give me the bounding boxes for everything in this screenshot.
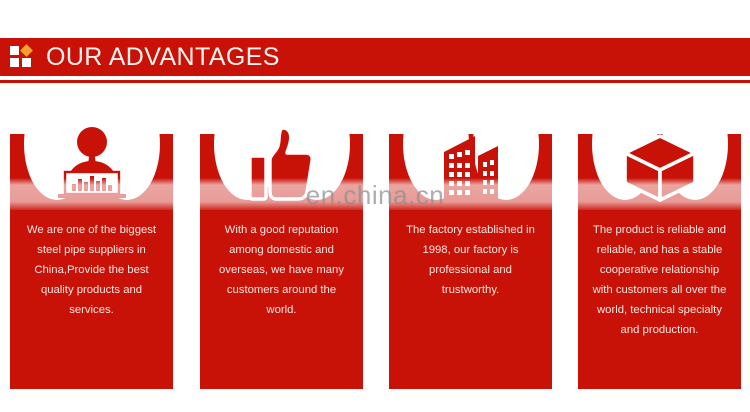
person-at-desk-with-chart-icon — [10, 104, 173, 206]
factory-buildings-icon — [389, 104, 552, 206]
card-description: With a good reputation among domestic an… — [211, 220, 352, 320]
advantage-card: We are one of the biggest steel pipe sup… — [10, 104, 173, 389]
logo-square-top-left — [10, 46, 19, 55]
thumbs-up-icon — [200, 104, 363, 206]
logo-square-bottom-left — [10, 58, 19, 67]
section-header-bar: OUR ADVANTAGES — [0, 38, 750, 76]
advantages-card-list: We are one of the biggest steel pipe sup… — [0, 104, 750, 389]
advantage-card: The factory established in 1998, our fac… — [389, 104, 552, 389]
card-description: The factory established in 1998, our fac… — [400, 220, 541, 300]
logo-square-bottom-right — [22, 58, 31, 67]
card-body: We are one of the biggest steel pipe sup… — [10, 202, 173, 389]
advantage-card: With a good reputation among domestic an… — [200, 104, 363, 389]
page-title: OUR ADVANTAGES — [46, 43, 280, 72]
card-body: With a good reputation among domestic an… — [200, 202, 363, 389]
card-description: We are one of the biggest steel pipe sup… — [21, 220, 162, 320]
header-underline-rule — [0, 80, 750, 83]
product-box-cube-icon — [578, 104, 741, 206]
card-body: The factory established in 1998, our fac… — [389, 202, 552, 389]
card-description: The product is reliable and reliable, an… — [589, 220, 730, 340]
advantage-card: The product is reliable and reliable, an… — [578, 104, 741, 389]
logo-diamond-top-right — [20, 44, 33, 57]
advantages-banner: OUR ADVANTAGES — [0, 0, 750, 412]
grid-diamond-logo-icon — [10, 46, 32, 68]
card-body: The product is reliable and reliable, an… — [578, 202, 741, 389]
